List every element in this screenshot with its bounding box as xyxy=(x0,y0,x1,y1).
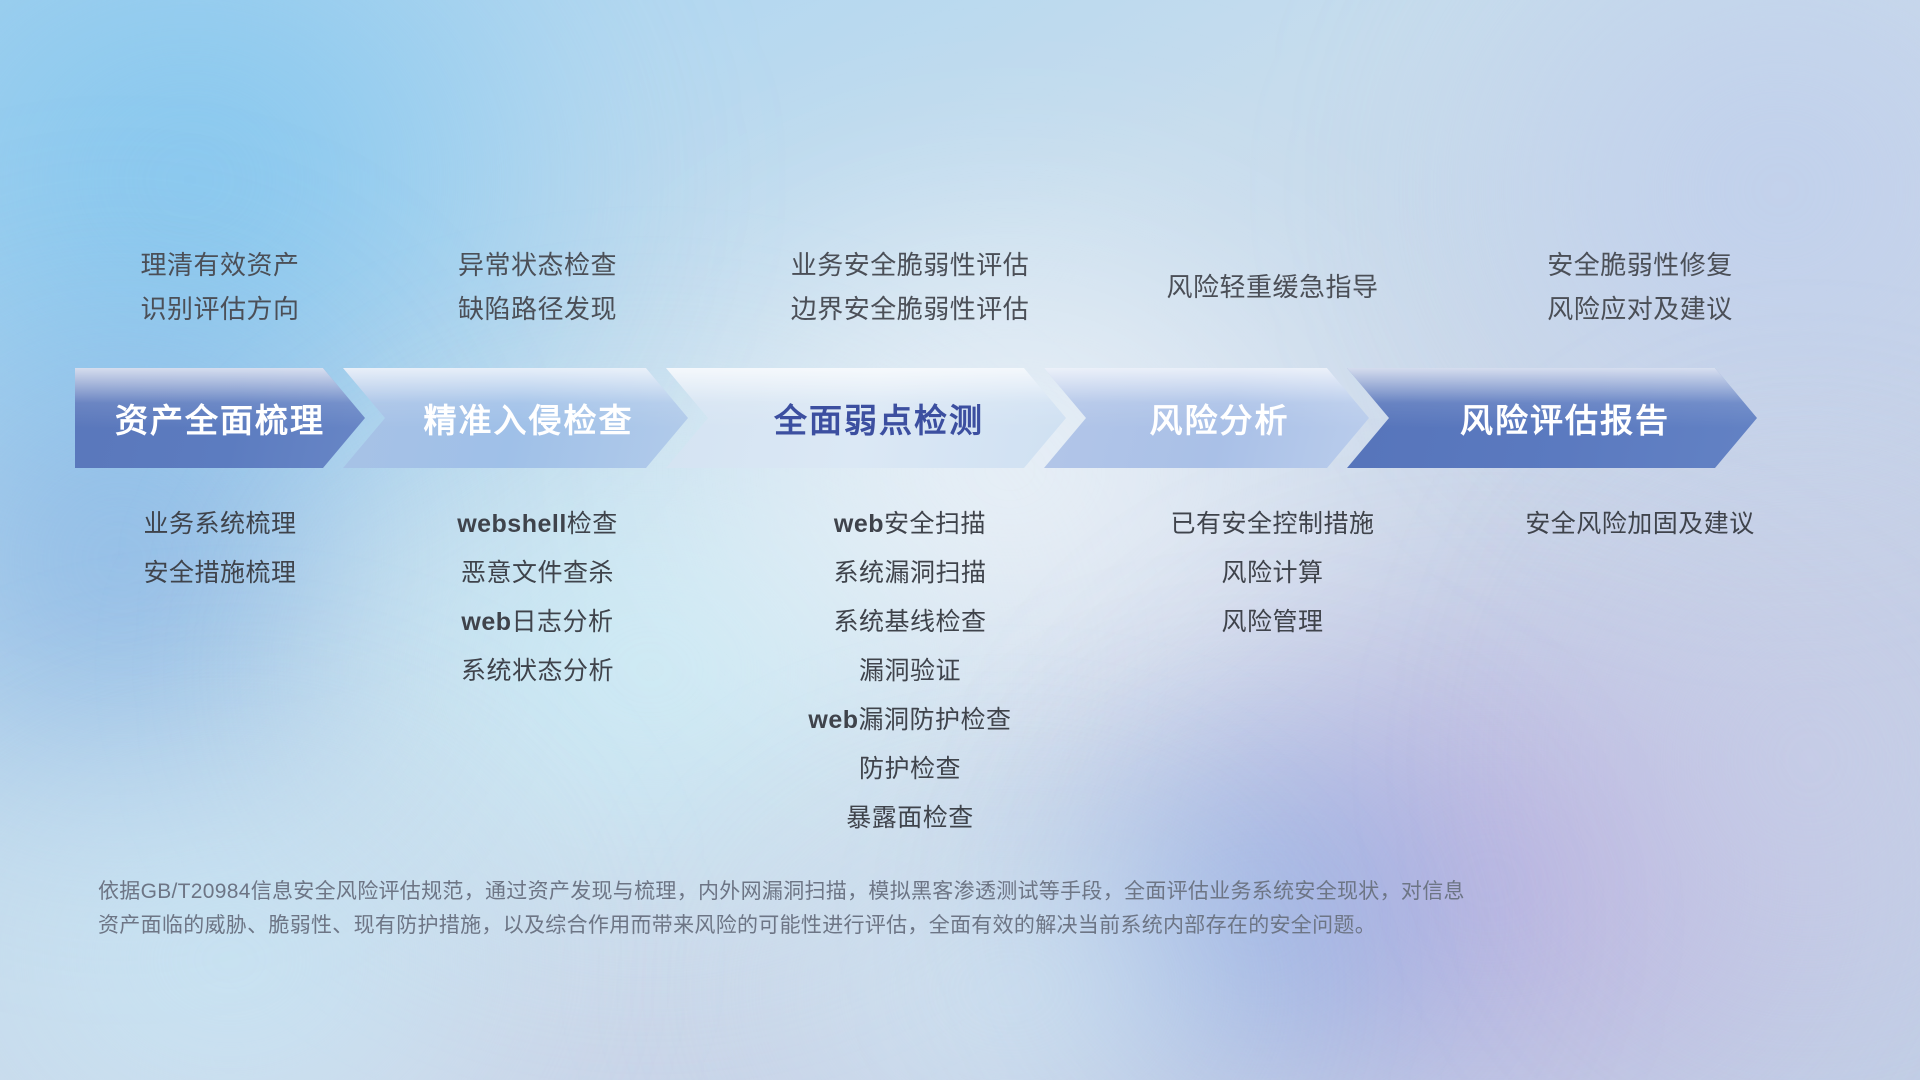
footer-line-1: 依据GB/T20984信息安全风险评估规范，通过资产发现与梳理，内外网漏洞扫描，… xyxy=(98,875,1638,909)
bottom-list-risk-analysis: 已有安全控制措施风险计算风险管理 xyxy=(1110,500,1435,647)
bottom-list-item: 防护检查 xyxy=(859,745,961,794)
top-label-item: 风险轻重缓急指导 xyxy=(1166,265,1378,309)
bottom-list-item: 已有安全控制措施 xyxy=(1170,500,1374,549)
top-label-group-asset-inventory: 理清有效资产识别评估方向 xyxy=(75,232,365,342)
item-latin-part: web xyxy=(461,608,511,636)
process-step-title: 全面弱点检测 xyxy=(666,394,1066,442)
bottom-list-row: 业务系统梳理安全措施梳理webshell检查恶意文件查杀web日志分析系统状态分… xyxy=(75,500,1845,843)
bottom-list-item: 安全措施梳理 xyxy=(143,549,296,598)
item-latin-part: web xyxy=(808,706,858,734)
item-cjk-part: 漏洞防护检查 xyxy=(859,706,1012,734)
bottom-list-item: 系统状态分析 xyxy=(461,647,614,696)
bottom-list-risk-report: 安全风险加固及建议 xyxy=(1435,500,1845,549)
bottom-list-item: 风险管理 xyxy=(1221,598,1323,647)
process-step-title: 风险评估报告 xyxy=(1347,394,1757,442)
top-label-item: 缺陷路径发现 xyxy=(458,287,617,331)
bottom-list-item: 系统基线检查 xyxy=(833,598,986,647)
top-label-item: 安全脆弱性修复 xyxy=(1547,243,1733,287)
top-label-item: 风险应对及建议 xyxy=(1547,287,1733,331)
bottom-list-asset-inventory: 业务系统梳理安全措施梳理 xyxy=(75,500,365,598)
bottom-list-intrusion-check: webshell检查恶意文件查杀web日志分析系统状态分析 xyxy=(365,500,710,696)
bottom-list-item: 漏洞验证 xyxy=(859,647,961,696)
bottom-list-item: webshell检查 xyxy=(457,500,618,549)
bottom-list-item: 安全风险加固及建议 xyxy=(1525,500,1755,549)
top-label-item: 业务安全脆弱性评估 xyxy=(791,243,1030,287)
bottom-list-item: web日志分析 xyxy=(461,598,613,647)
process-step-title: 精准入侵检查 xyxy=(343,394,688,442)
process-step-title: 风险分析 xyxy=(1044,394,1369,442)
top-label-item: 理清有效资产 xyxy=(140,243,299,287)
bottom-list-item: 暴露面检查 xyxy=(846,794,974,843)
item-latin-part: web xyxy=(834,510,884,538)
footer-description: 依据GB/T20984信息安全风险评估规范，通过资产发现与梳理，内外网漏洞扫描，… xyxy=(98,875,1638,943)
top-label-group-weakness-detection: 业务安全脆弱性评估边界安全脆弱性评估 xyxy=(710,232,1110,342)
process-step-title: 资产全面梳理 xyxy=(75,394,365,442)
bottom-list-item: 系统漏洞扫描 xyxy=(833,549,986,598)
top-label-group-intrusion-check: 异常状态检查缺陷路径发现 xyxy=(365,232,710,342)
process-step-risk-analysis[interactable]: 风险分析 xyxy=(1044,368,1369,468)
process-step-risk-report[interactable]: 风险评估报告 xyxy=(1347,368,1757,468)
item-cjk-part: 日志分析 xyxy=(512,608,614,636)
process-step-weakness-detection[interactable]: 全面弱点检测 xyxy=(666,368,1066,468)
item-cjk-part: 安全扫描 xyxy=(884,510,986,538)
top-label-row: 理清有效资产识别评估方向异常状态检查缺陷路径发现业务安全脆弱性评估边界安全脆弱性… xyxy=(75,232,1845,342)
bottom-list-item: 风险计算 xyxy=(1221,549,1323,598)
bottom-list-weakness-detection: web安全扫描系统漏洞扫描系统基线检查漏洞验证web漏洞防护检查防护检查暴露面检… xyxy=(710,500,1110,843)
item-latin-part: webshell xyxy=(457,510,567,538)
top-label-item: 异常状态检查 xyxy=(458,243,617,287)
top-label-group-risk-analysis: 风险轻重缓急指导 xyxy=(1110,232,1435,342)
item-cjk-part: 检查 xyxy=(567,510,618,538)
footer-line-2: 资产面临的威胁、脆弱性、现有防护措施，以及综合作用而带来风险的可能性进行评估，全… xyxy=(98,909,1638,943)
process-diagram: 理清有效资产识别评估方向异常状态检查缺陷路径发现业务安全脆弱性评估边界安全脆弱性… xyxy=(0,0,1920,1080)
top-label-item: 边界安全脆弱性评估 xyxy=(791,287,1030,331)
top-label-item: 识别评估方向 xyxy=(140,287,299,331)
process-step-intrusion-check[interactable]: 精准入侵检查 xyxy=(343,368,688,468)
bottom-list-item: 业务系统梳理 xyxy=(143,500,296,549)
bottom-list-item: web漏洞防护检查 xyxy=(808,696,1011,745)
process-arrow-band: 资产全面梳理精准入侵检查全面弱点检测风险分析风险评估报告 xyxy=(75,368,1845,468)
bottom-list-item: 恶意文件查杀 xyxy=(461,549,614,598)
top-label-group-risk-report: 安全脆弱性修复风险应对及建议 xyxy=(1435,232,1845,342)
process-step-asset-inventory[interactable]: 资产全面梳理 xyxy=(75,368,365,468)
bottom-list-item: web安全扫描 xyxy=(834,500,986,549)
